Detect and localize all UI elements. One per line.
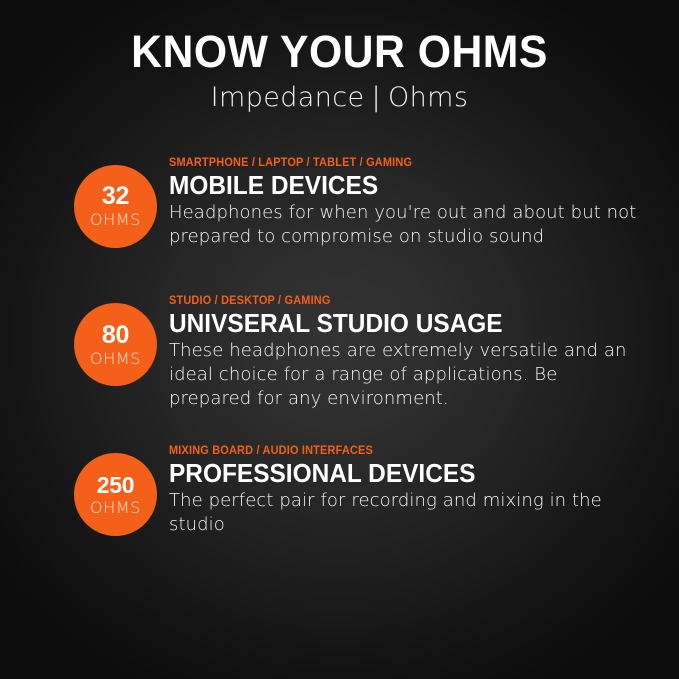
- ohm-badge-unit: OHMS: [90, 351, 141, 367]
- infographic-header: KNOW YOUR OHMS Impedance|Ohms: [0, 0, 679, 113]
- ohms-infographic: KNOW YOUR OHMS Impedance|Ohms 32 OHMS SM…: [0, 0, 679, 679]
- subtitle-divider: |: [372, 83, 382, 113]
- section-headline: PROFESSIONAL DEVICES: [169, 460, 613, 488]
- section-kicker-label: MIXING BOARD / AUDIO INTERFACES: [169, 445, 617, 458]
- ohm-badge-value: 250: [97, 474, 134, 497]
- section-body-text: These headphones are extremely versatile…: [169, 339, 641, 411]
- ohms-section-professional-devices: 250 OHMS MIXING BOARD / AUDIO INTERFACES…: [0, 445, 679, 537]
- ohms-sections-list: 32 OHMS SMARTPHONE / LAPTOP / TABLET / G…: [0, 157, 679, 537]
- page-title: KNOW YOUR OHMS: [17, 28, 662, 75]
- ohm-badge-unit: OHMS: [90, 212, 141, 228]
- ohm-badge-value: 80: [102, 323, 129, 348]
- section-headline: MOBILE DEVICES: [169, 172, 613, 200]
- subtitle-right-label: Ohms: [388, 82, 468, 113]
- ohm-badge-250: 250 OHMS: [74, 453, 157, 536]
- subtitle-left-label: Impedance: [211, 82, 365, 113]
- ohms-section-mobile-devices: 32 OHMS SMARTPHONE / LAPTOP / TABLET / G…: [0, 157, 679, 249]
- ohm-badge-unit: OHMS: [90, 500, 141, 516]
- ohm-badge-32: 32 OHMS: [74, 165, 157, 248]
- section-text-block: STUDIO / DESKTOP / GAMING UNIVSERAL STUD…: [157, 295, 641, 411]
- section-kicker-label: SMARTPHONE / LAPTOP / TABLET / GAMING: [169, 157, 617, 170]
- section-text-block: MIXING BOARD / AUDIO INTERFACES PROFESSI…: [157, 445, 641, 537]
- section-body-text: The perfect pair for recording and mixin…: [169, 489, 641, 537]
- ohm-badge-value: 32: [102, 184, 129, 209]
- ohms-section-universal-studio-usage: 80 OHMS STUDIO / DESKTOP / GAMING UNIVSE…: [0, 295, 679, 411]
- section-text-block: SMARTPHONE / LAPTOP / TABLET / GAMING MO…: [157, 157, 641, 249]
- section-kicker-label: STUDIO / DESKTOP / GAMING: [169, 295, 617, 308]
- ohm-badge-80: 80 OHMS: [74, 303, 157, 386]
- section-headline: UNIVSERAL STUDIO USAGE: [169, 310, 613, 338]
- section-body-text: Headphones for when you're out and about…: [169, 201, 641, 249]
- page-subtitle: Impedance|Ohms: [0, 83, 679, 113]
